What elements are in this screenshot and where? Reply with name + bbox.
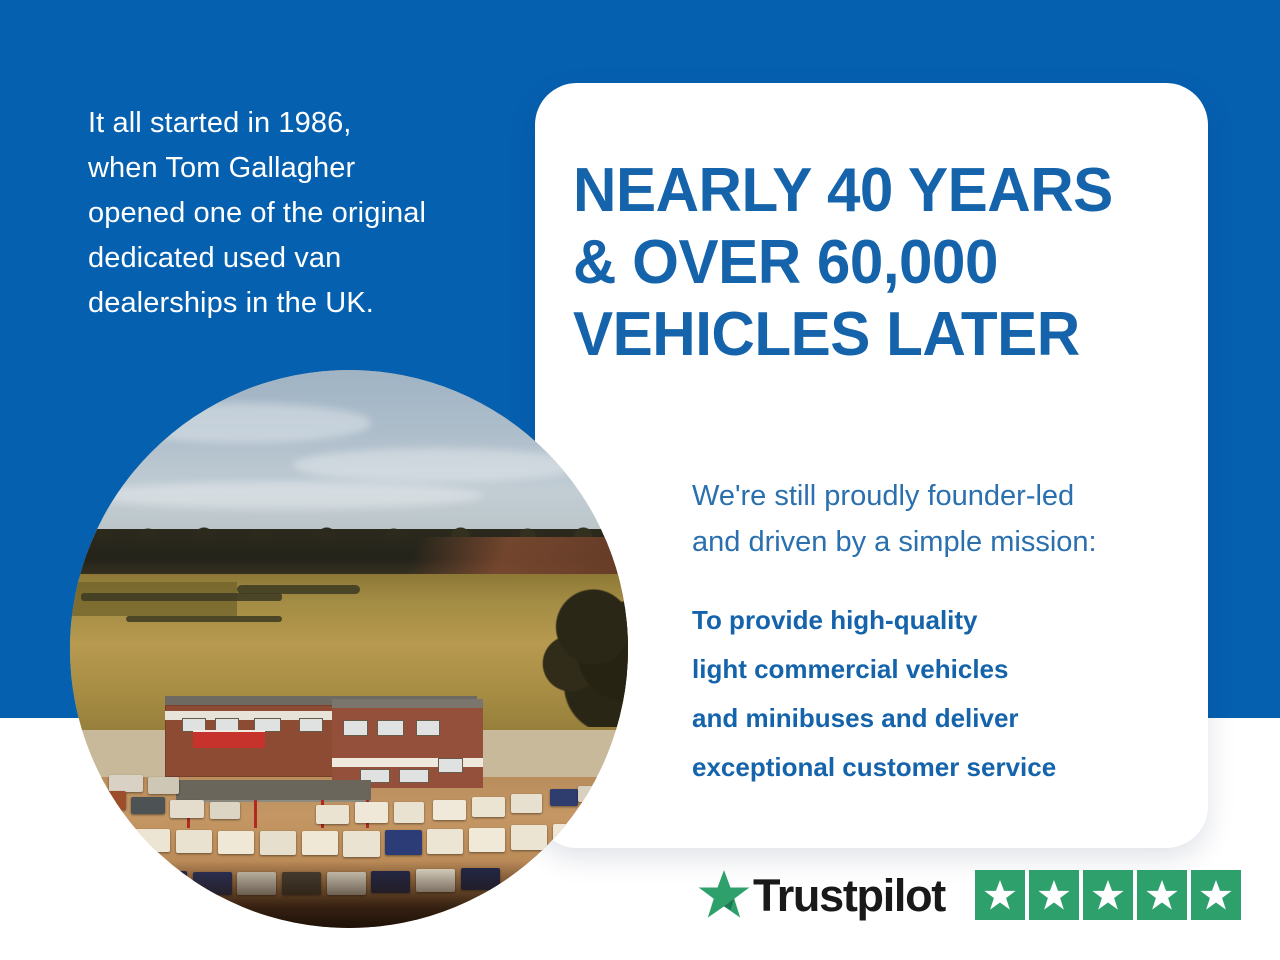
photo-van: [148, 777, 179, 794]
trustpilot-star-5: [1191, 870, 1241, 920]
photo-van: [385, 830, 421, 856]
photo-van: [343, 831, 379, 857]
photo-van: [355, 802, 388, 822]
photo-cloud: [115, 403, 372, 442]
photo-canopy-post: [254, 800, 257, 828]
photo-van: [131, 829, 170, 852]
photo-cloud: [293, 448, 583, 481]
photo-foreground-shadow: [70, 861, 628, 928]
photo-van: [592, 836, 625, 857]
headline: NEARLY 40 YEARS & OVER 60,000 VEHICLES L…: [573, 155, 1165, 371]
subheading: We're still proudly founder-led and driv…: [692, 473, 1182, 565]
photo-van: [218, 831, 254, 854]
photo-window: [377, 720, 404, 735]
photo-window: [399, 769, 429, 783]
trustpilot-wordmark: Trustpilot: [753, 873, 945, 918]
intro-paragraph: It all started in 1986, when Tom Gallagh…: [88, 101, 508, 326]
photo-van: [176, 830, 212, 853]
photo-window: [299, 718, 323, 732]
photo-van: [511, 794, 542, 813]
star-icon: [1199, 878, 1233, 912]
photo-van: [131, 797, 164, 814]
photo-canopy: [176, 780, 371, 802]
photo-van: [302, 831, 338, 856]
photo-window: [416, 720, 440, 735]
star-icon: [983, 878, 1017, 912]
photo-van: [316, 805, 349, 824]
star-icon: [1091, 878, 1125, 912]
photo-van: [87, 828, 126, 850]
star-icon: [1145, 878, 1179, 912]
photo-window: [343, 720, 367, 735]
trustpilot-star-4: [1137, 870, 1187, 920]
trustpilot-star-3: [1083, 870, 1133, 920]
photo-van: [550, 789, 578, 807]
trustpilot-star-2: [1029, 870, 1079, 920]
trustpilot-rating[interactable]: Trustpilot: [697, 864, 1241, 926]
trustpilot-logo[interactable]: Trustpilot: [697, 868, 945, 922]
photo-van: [394, 802, 425, 822]
photo-van: [87, 791, 126, 810]
photo-hedge: [126, 616, 282, 623]
photo-van: [472, 797, 505, 817]
trustpilot-star-icon: [697, 868, 751, 922]
dealership-photo: [70, 370, 628, 928]
photo-van: [511, 825, 547, 850]
photo-van: [553, 824, 589, 847]
trustpilot-stars[interactable]: [975, 870, 1241, 920]
mission-statement: To provide high-quality light commercial…: [692, 596, 1192, 792]
photo-van: [210, 802, 241, 819]
photo-hedge: [237, 585, 360, 594]
photo-building-sign: [193, 730, 266, 748]
photo-window: [438, 758, 462, 773]
trustpilot-star-1: [975, 870, 1025, 920]
content-card: NEARLY 40 YEARS & OVER 60,000 VEHICLES L…: [535, 83, 1208, 848]
photo-van: [433, 800, 466, 820]
photo-van: [469, 828, 505, 853]
photo-hedge: [81, 593, 282, 601]
star-icon: [1037, 878, 1071, 912]
photo-van: [427, 829, 463, 855]
photo-van: [109, 775, 142, 793]
photo-van: [170, 800, 203, 818]
infographic-stage: It all started in 1986, when Tom Gallagh…: [0, 0, 1280, 960]
photo-illustration: [70, 370, 628, 928]
photo-van: [260, 831, 296, 856]
photo-van: [578, 786, 606, 803]
photo-trees-right: [461, 560, 628, 727]
